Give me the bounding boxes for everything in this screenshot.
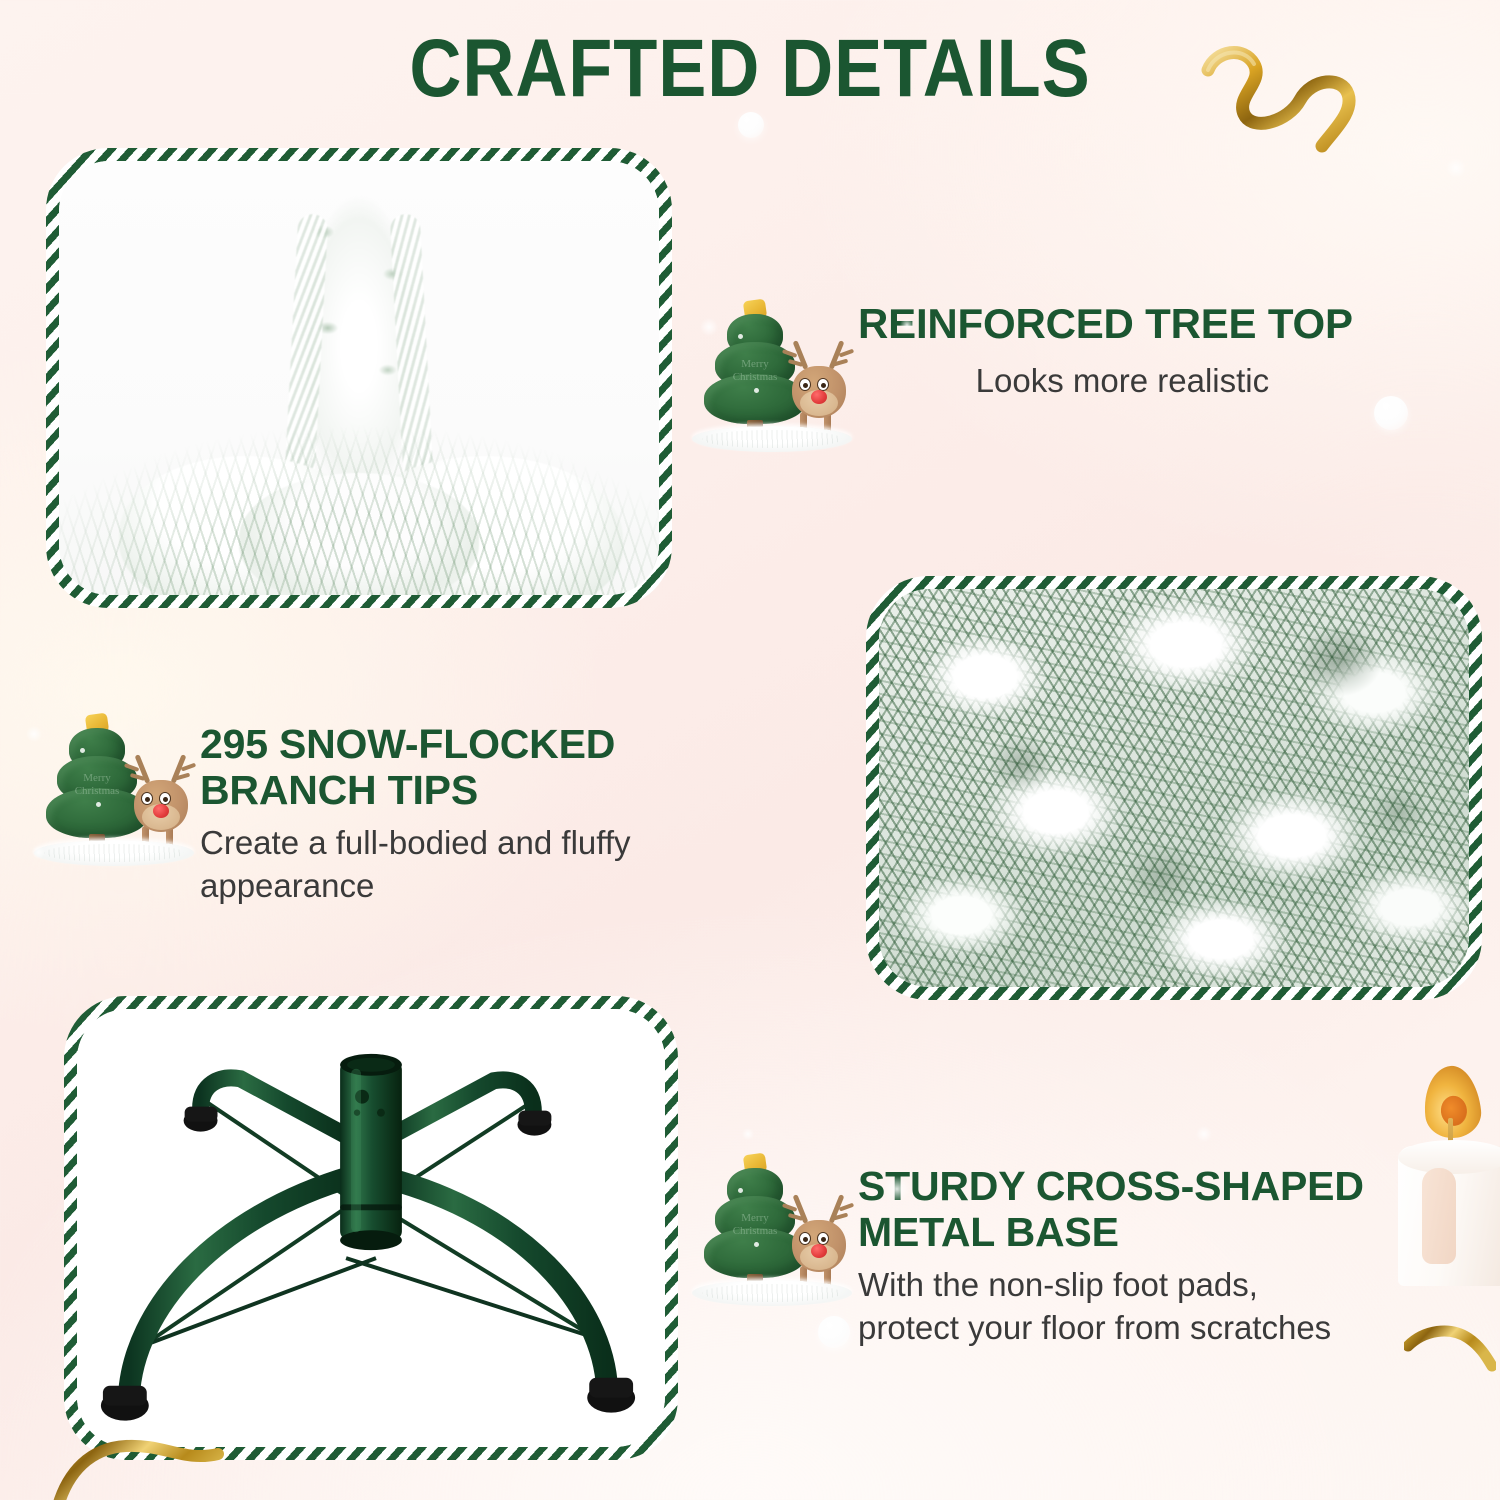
snowball-dot [700, 318, 718, 336]
gold-flame-candle-icon [1388, 1060, 1500, 1290]
christmas-tree-reindeer-icon: Merry Christmas [690, 1140, 858, 1308]
reindeer-eye [799, 378, 811, 391]
tree-bauble [80, 748, 85, 753]
reindeer-eye [141, 792, 153, 805]
snow-mound [692, 426, 852, 452]
snowball-dot [818, 1316, 850, 1348]
antler-left [135, 754, 151, 784]
reindeer-red-nose [811, 1244, 827, 1258]
needle-texture [59, 395, 659, 595]
feature-subtitle: With the non-slip foot pads, protect you… [858, 1263, 1364, 1350]
tree-bauble [754, 1242, 759, 1247]
candle-top [1398, 1140, 1500, 1174]
gold-ribbon-curl-bottom-left [52, 1432, 282, 1500]
snowball-dot [1196, 1126, 1212, 1142]
reindeer-icon [784, 1192, 858, 1288]
reindeer-icon [784, 338, 858, 434]
antler-right [829, 1194, 845, 1224]
feature-text-metal-base: STURDY CROSS-SHAPED METAL BASE With the … [858, 1140, 1364, 1350]
snow-mound [34, 840, 194, 866]
feature-block-metal-base: Merry Christmas STURDY CROSS-SHAPED META… [690, 1140, 1450, 1350]
snow-mound [692, 1280, 852, 1306]
snow-flocked-tree-top-photo [59, 161, 659, 595]
photo-frame-branch-tips [866, 576, 1482, 1000]
feature-block-branch-tips: Merry Christmas 295 SNOW-FLOCKED BRANCH … [32, 700, 732, 908]
snowball-dot [1446, 158, 1466, 178]
feature-title: 295 SNOW-FLOCKED BRANCH TIPS [200, 722, 631, 814]
reindeer-eye [799, 1232, 811, 1245]
snowball-dot [742, 1128, 754, 1140]
infographic-canvas: CRAFTED DETAILS [0, 0, 1500, 1500]
feature-subtitle: Create a full-bodied and fluffy appearan… [200, 821, 631, 908]
antler-left [793, 340, 809, 370]
snow-flocked-branch-tips-photo [879, 589, 1469, 987]
reindeer-red-nose [811, 390, 827, 404]
metal-tree-stand-illustration [77, 1009, 665, 1447]
candle-drip [1422, 1168, 1456, 1264]
christmas-tree-reindeer-icon: Merry Christmas [690, 286, 858, 454]
christmas-tree-reindeer-icon: Merry Christmas [32, 700, 200, 868]
snowball-dot [884, 1176, 910, 1202]
photo-frame-metal-base [64, 996, 678, 1460]
tree-bauble [738, 334, 743, 339]
snowball-dot [738, 112, 764, 138]
cross-shaped-metal-base-photo [77, 1009, 665, 1447]
feature-subtitle: Looks more realistic [858, 359, 1353, 403]
reindeer-red-nose [153, 804, 169, 818]
antler-right [171, 754, 187, 784]
snowball-dot [1374, 396, 1408, 430]
snowball-dot [32, 846, 45, 859]
feature-title: STURDY CROSS-SHAPED METAL BASE [858, 1164, 1364, 1256]
snowball-dot [900, 318, 914, 332]
feature-block-tree-top: Merry Christmas REINFORCED TREE TOP Look… [690, 286, 1450, 454]
tree-bauble [754, 388, 759, 393]
feature-text-branch-tips: 295 SNOW-FLOCKED BRANCH TIPS Create a fu… [200, 700, 631, 908]
tree-bauble [738, 1188, 743, 1193]
photo-frame-tree-top [46, 148, 672, 608]
antler-left [793, 1194, 809, 1224]
gold-ribbon-curl-top-right [1196, 26, 1376, 156]
reindeer-icon [126, 752, 200, 848]
tree-bauble [96, 802, 101, 807]
antler-right [829, 340, 845, 370]
feature-title: REINFORCED TREE TOP [858, 300, 1353, 347]
gold-ribbon-fragment-bottom-right [1404, 1312, 1496, 1372]
feature-text-tree-top: REINFORCED TREE TOP Looks more realistic [858, 286, 1353, 403]
snowball-dot [26, 726, 42, 742]
